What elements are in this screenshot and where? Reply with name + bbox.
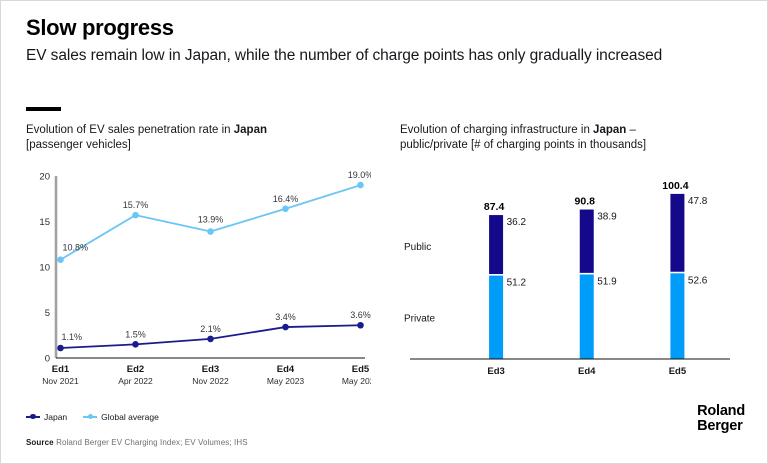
- line-chart-legend: JapanGlobal average: [26, 412, 159, 422]
- right-heading-dash: –: [626, 124, 636, 136]
- bar-value-public-Ed3: 36.2: [507, 217, 527, 228]
- bar-x-axis-category-Ed3: Ed3: [487, 366, 504, 377]
- data-point-global-average-Ed1: [57, 256, 64, 263]
- legend-item-global-average: Global average: [83, 412, 159, 422]
- data-label-japan-Ed4: 3.4%: [275, 312, 296, 322]
- legend-item-japan: Japan: [26, 412, 67, 422]
- data-point-japan-Ed1: [57, 345, 64, 352]
- data-label-japan-Ed1: 1.1%: [62, 332, 83, 342]
- data-point-japan-Ed4: [282, 324, 289, 331]
- data-point-japan-Ed2: [132, 341, 139, 348]
- left-heading-bold: Japan: [234, 124, 267, 136]
- source-text: Roland Berger EV Charging Index; EV Volu…: [56, 438, 248, 447]
- x-axis-sublabel-Ed4: May 2023: [267, 376, 305, 386]
- bar-value-private-Ed3: 51.2: [507, 278, 527, 289]
- bar-segment-public-Ed3: [489, 215, 503, 274]
- legend-label: Global average: [101, 412, 159, 422]
- data-label-japan-Ed3: 2.1%: [200, 324, 221, 334]
- data-label-global-average-Ed2: 15.7%: [123, 200, 149, 210]
- data-label-japan-Ed5: 3.6%: [350, 310, 371, 320]
- right-chart-heading: Evolution of charging infrastructure in …: [400, 123, 720, 153]
- x-axis-sublabel-Ed1: Nov 2021: [42, 376, 79, 386]
- source-label: Source: [26, 438, 54, 447]
- bar-value-public-Ed4: 38.9: [597, 212, 617, 223]
- right-heading-bold: Japan: [593, 124, 626, 136]
- x-axis-category-Ed5: Ed5: [352, 364, 370, 375]
- x-axis-category-Ed4: Ed4: [277, 364, 295, 375]
- legend-marker-icon: [83, 413, 97, 421]
- data-label-global-average-Ed5: 19.0%: [348, 170, 371, 180]
- legend-label: Japan: [44, 412, 67, 422]
- right-heading-line2: public/private [# of charging points in …: [400, 139, 646, 151]
- left-heading-text: Evolution of EV sales penetration rate i…: [26, 124, 234, 136]
- bar-segment-private-Ed3: [489, 276, 503, 359]
- bar-value-private-Ed4: 51.9: [597, 276, 617, 287]
- data-point-global-average-Ed3: [207, 228, 214, 235]
- charging-infrastructure-stacked-bar-chart: 51.236.287.4Ed351.938.990.8Ed452.647.810…: [400, 166, 740, 391]
- x-axis-category-Ed1: Ed1: [52, 364, 70, 375]
- bar-segment-public-Ed4: [580, 210, 594, 273]
- data-point-japan-Ed3: [207, 336, 214, 343]
- left-heading-line2: [passenger vehicles]: [26, 139, 131, 151]
- bar-x-axis-category-Ed4: Ed4: [578, 366, 596, 377]
- data-label-global-average-Ed4: 16.4%: [273, 194, 299, 204]
- logo-line-2: Berger: [697, 419, 745, 435]
- data-label-japan-Ed2: 1.5%: [125, 329, 146, 339]
- x-axis-category-Ed2: Ed2: [127, 364, 144, 375]
- ev-sales-penetration-line-chart: 051015201.1%1.5%2.1%3.4%3.6%10.8%15.7%13…: [26, 166, 371, 406]
- series-side-label-private: Private: [404, 313, 436, 324]
- title-underline-rule: [26, 107, 61, 111]
- data-point-global-average-Ed5: [357, 182, 364, 189]
- y-axis-tick-label: 20: [39, 171, 50, 182]
- y-axis-tick-label: 0: [45, 353, 50, 364]
- source-note: Source Roland Berger EV Charging Index; …: [26, 438, 248, 447]
- bar-value-public-Ed5: 47.8: [688, 196, 708, 207]
- roland-berger-logo: Roland Berger: [697, 404, 745, 435]
- legend-marker-icon: [26, 413, 40, 421]
- x-axis-sublabel-Ed5: May 2024: [342, 376, 371, 386]
- logo-line-1: Roland: [697, 404, 745, 420]
- series-side-label-public: Public: [404, 242, 431, 253]
- page-title: Slow progress: [26, 15, 174, 41]
- y-axis-tick-label: 15: [39, 217, 50, 228]
- slide-root: Slow progress EV sales remain low in Jap…: [1, 1, 767, 463]
- bar-x-axis-category-Ed5: Ed5: [669, 366, 687, 377]
- data-point-global-average-Ed2: [132, 212, 139, 219]
- bar-total-Ed5: 100.4: [662, 180, 688, 192]
- data-label-global-average-Ed3: 13.9%: [198, 215, 224, 225]
- page-subtitle: EV sales remain low in Japan, while the …: [26, 45, 716, 66]
- bar-total-Ed4: 90.8: [575, 196, 596, 208]
- data-label-global-average-Ed1: 10.8%: [63, 243, 89, 253]
- y-axis-tick-label: 5: [45, 308, 50, 319]
- bar-segment-private-Ed4: [580, 274, 594, 359]
- bar-segment-public-Ed5: [670, 194, 684, 272]
- bar-value-private-Ed5: 52.6: [688, 275, 708, 286]
- left-chart-heading: Evolution of EV sales penetration rate i…: [26, 123, 356, 153]
- data-point-global-average-Ed4: [282, 205, 289, 212]
- data-point-japan-Ed5: [357, 322, 364, 329]
- x-axis-sublabel-Ed2: Apr 2022: [118, 376, 153, 386]
- x-axis-sublabel-Ed3: Nov 2022: [192, 376, 229, 386]
- bar-segment-private-Ed5: [670, 273, 684, 359]
- x-axis-category-Ed3: Ed3: [202, 364, 219, 375]
- right-heading-text: Evolution of charging infrastructure in: [400, 124, 593, 136]
- y-axis-tick-label: 10: [39, 262, 50, 273]
- bar-total-Ed3: 87.4: [484, 201, 505, 213]
